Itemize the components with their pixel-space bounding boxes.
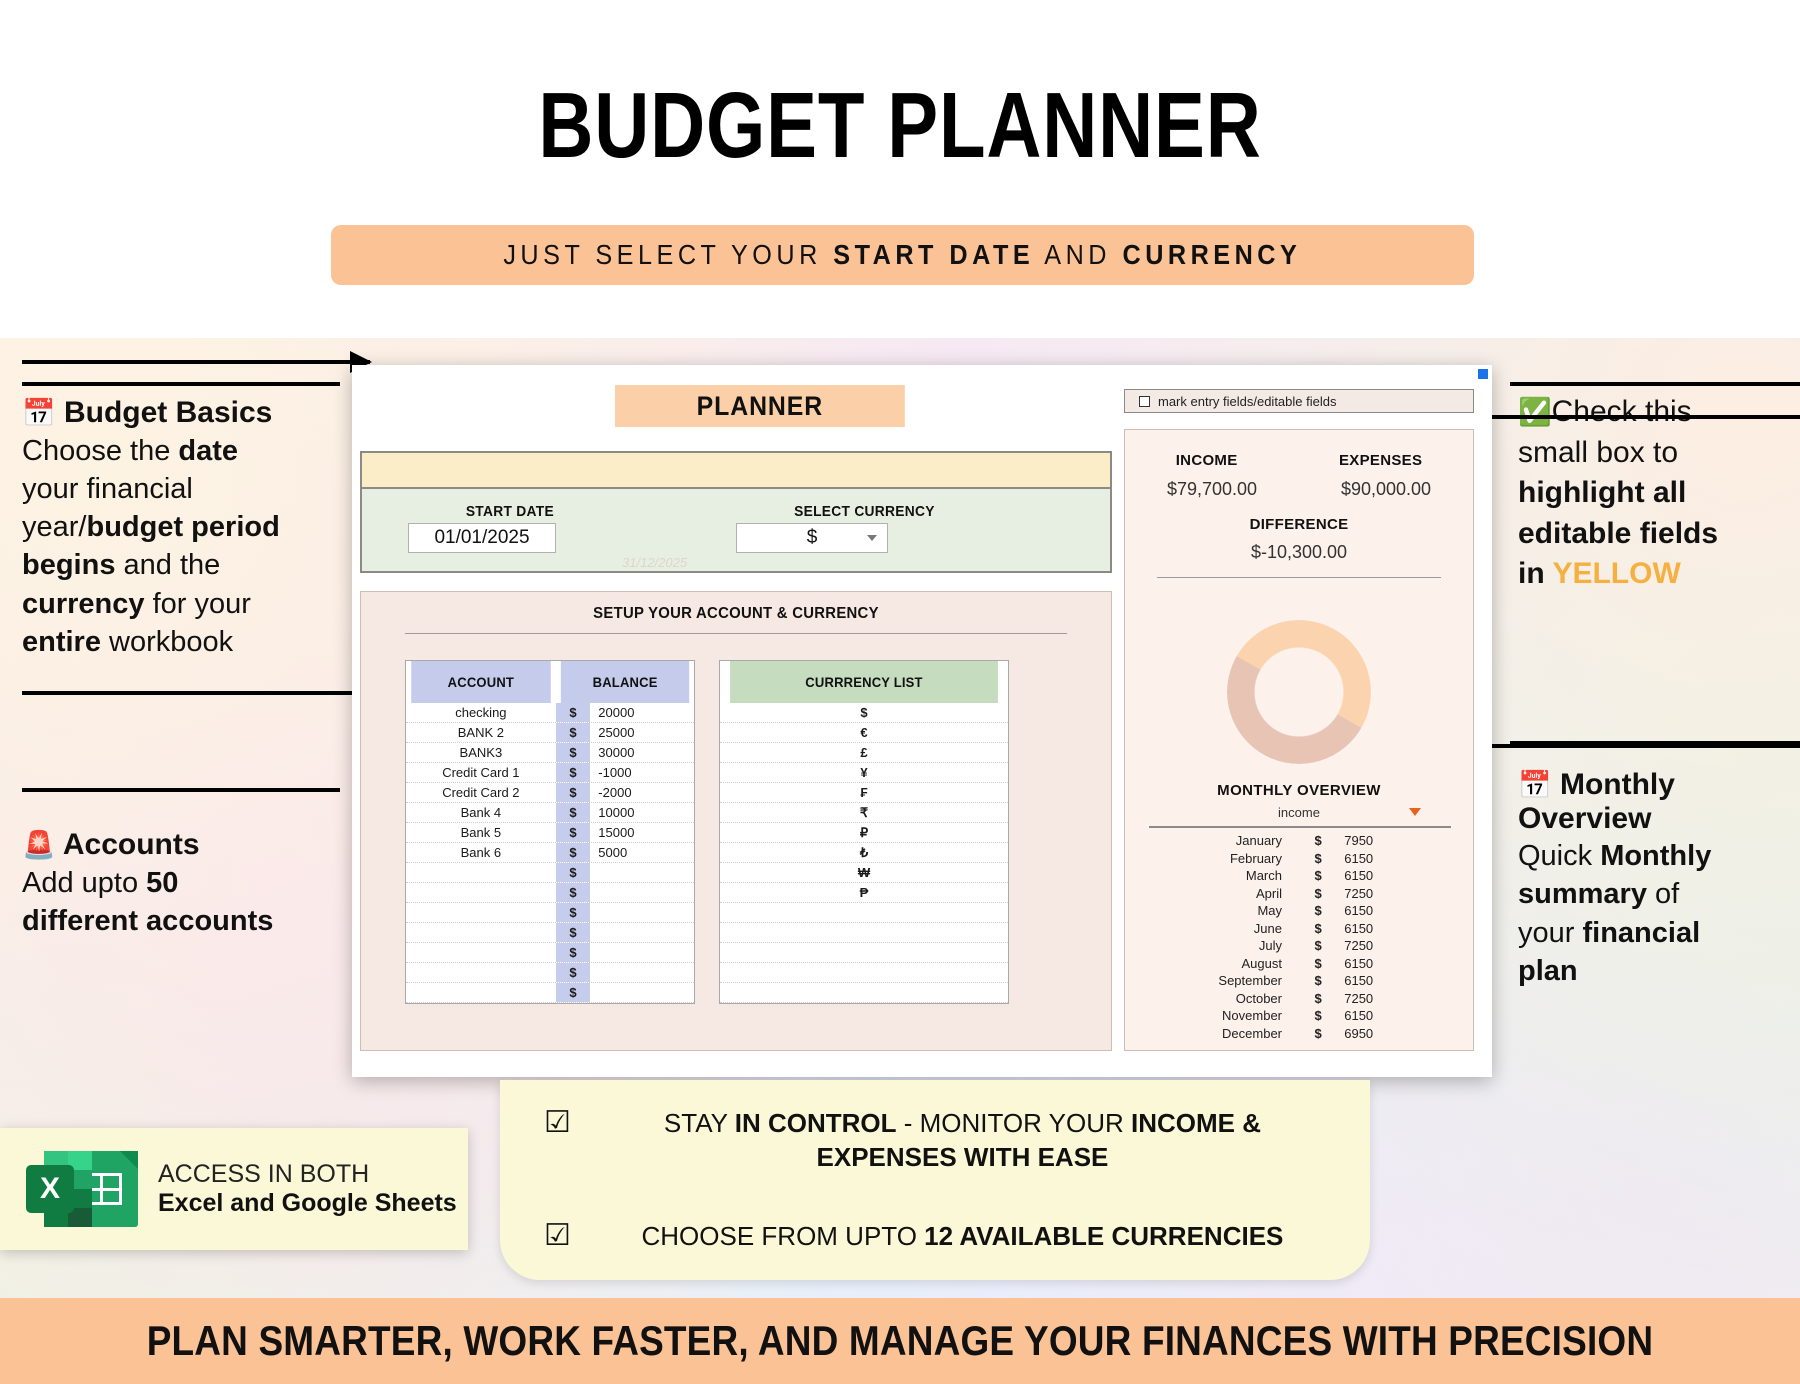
list-item: May$6150 — [1149, 902, 1451, 920]
month-value: 6150 — [1336, 903, 1451, 918]
col-header-account: ACCOUNT — [411, 661, 550, 703]
account-balance-cell[interactable]: -1000 — [590, 763, 694, 782]
currency-symbol-cell[interactable]: £ — [720, 743, 1008, 762]
currency-symbol-cell[interactable] — [720, 983, 1008, 1002]
month-label: March — [1149, 868, 1300, 883]
feature-item-2: ☑ CHOOSE FROM UPTO 12 AVAILABLE CURRENCI… — [500, 1175, 1370, 1253]
month-value: 6150 — [1336, 868, 1451, 883]
account-currency-cell: $ — [556, 983, 591, 1002]
month-value: 6950 — [1336, 1026, 1451, 1041]
bb-l5-bold: currency — [22, 588, 145, 620]
cb-l1: Check this — [1552, 395, 1692, 428]
col-header-currency-list: CURRRENCY LIST — [730, 661, 998, 703]
mo-l1-plain: Quick — [1518, 840, 1600, 872]
bb-l3-bold: budget period — [86, 511, 279, 543]
f1-a: STAY — [664, 1108, 735, 1138]
account-balance-cell[interactable] — [590, 903, 694, 922]
currency-symbol-cell[interactable]: ₺ — [720, 843, 1008, 862]
planner-title-cell: PLANNER — [615, 385, 905, 427]
f2-b: 12 AVAILABLE CURRENCIES — [924, 1221, 1283, 1251]
currency-select-value: $ — [807, 527, 818, 549]
account-balance-cell[interactable]: -2000 — [590, 783, 694, 802]
accounts-heading-text: Accounts — [63, 828, 200, 861]
annotation-check-box: ✅Check this small box to highlight all e… — [1518, 392, 1788, 595]
table-row[interactable]: ₺ — [720, 843, 1008, 863]
account-name-cell[interactable]: BANK3 — [406, 743, 556, 762]
monthly-overview-table: January$7950February$6150March$6150April… — [1149, 832, 1451, 1042]
divider-left-mid — [22, 788, 340, 792]
account-currency-cell: $ — [556, 763, 591, 782]
setup-panel: SETUP YOUR ACCOUNT & CURRENCY ACCOUNT BA… — [360, 591, 1112, 1051]
start-date-label: START DATE — [466, 503, 554, 520]
currency-symbol-cell[interactable]: ₹ — [720, 803, 1008, 822]
month-value: 6150 — [1336, 921, 1451, 936]
table-row[interactable] — [720, 923, 1008, 943]
income-value: $79,700.00 — [1167, 479, 1257, 500]
currency-symbol-cell[interactable] — [720, 903, 1008, 922]
account-currency-cell: $ — [556, 843, 591, 862]
table-row[interactable]: Credit Card 1$-1000 — [406, 763, 694, 783]
mark-entry-fields-row[interactable]: mark entry fields/editable fields — [1124, 389, 1474, 413]
currency-table-header: CURRRENCY LIST — [720, 661, 1008, 703]
account-balance-cell[interactable]: 30000 — [590, 743, 694, 762]
account-currency-cell: $ — [556, 863, 591, 882]
table-row[interactable]: Bank 4$10000 — [406, 803, 694, 823]
f1-c: - MONITOR YOUR — [896, 1108, 1131, 1138]
sheet-selection-corner — [1478, 369, 1488, 379]
table-row[interactable]: BANK3$30000 — [406, 743, 694, 763]
bb-l1-plain: Choose the — [22, 435, 178, 467]
list-item: August$6150 — [1149, 955, 1451, 973]
account-name-cell[interactable] — [406, 963, 556, 982]
month-currency: $ — [1300, 868, 1336, 883]
highlight-bar — [362, 453, 1110, 489]
table-row[interactable]: ¥ — [720, 763, 1008, 783]
account-currency-cell: $ — [556, 943, 591, 962]
account-balance-cell[interactable]: 20000 — [590, 703, 694, 722]
bb-l4-plain: and the — [115, 549, 220, 581]
account-balance-cell[interactable] — [590, 943, 694, 962]
account-name-cell[interactable]: Credit Card 1 — [406, 763, 556, 782]
account-name-cell[interactable]: Bank 4 — [406, 803, 556, 822]
mo-l2-plain: of — [1647, 878, 1679, 910]
account-currency-cell: $ — [556, 883, 591, 902]
month-value: 6150 — [1336, 1008, 1451, 1023]
table-row[interactable]: € — [720, 723, 1008, 743]
mo-heading-l1: Monthly — [1560, 768, 1675, 801]
month-currency: $ — [1300, 956, 1336, 971]
col-header-balance: BALANCE — [561, 661, 690, 703]
mo-l4-bold: plan — [1518, 955, 1578, 987]
list-item: November$6150 — [1149, 1007, 1451, 1025]
budget-basics-body: Choose the date your financial year/budg… — [22, 432, 342, 662]
account-currency-cell: $ — [556, 783, 591, 802]
account-name-cell[interactable] — [406, 863, 556, 882]
currency-symbol-cell[interactable] — [720, 963, 1008, 982]
month-currency: $ — [1300, 1008, 1336, 1023]
month-value: 6150 — [1336, 956, 1451, 971]
month-currency: $ — [1300, 851, 1336, 866]
month-label: May — [1149, 903, 1300, 918]
summary-labels: INCOME EXPENSES — [1125, 452, 1473, 469]
list-item: March$6150 — [1149, 867, 1451, 885]
check-mark-icon: ✅ — [1518, 397, 1552, 427]
table-row[interactable]: Bank 5$15000 — [406, 823, 694, 843]
bottom-banner-text: PLAN SMARTER, WORK FASTER, AND MANAGE YO… — [147, 1317, 1653, 1365]
setup-panel-title: SETUP YOUR ACCOUNT & CURRENCY — [387, 592, 1085, 623]
date-currency-panel: START DATE 01/01/2025 SELECT CURRENCY $ … — [360, 451, 1112, 573]
currency-symbol-cell[interactable]: ¥ — [720, 763, 1008, 782]
table-row[interactable]: ₣ — [720, 783, 1008, 803]
feature-item-1: ☑ STAY IN CONTROL - MONITOR YOUR INCOME … — [500, 1080, 1370, 1175]
account-name-cell[interactable] — [406, 883, 556, 902]
account-currency-cell: $ — [556, 803, 591, 822]
chevron-down-icon[interactable] — [867, 535, 877, 541]
account-currency-cell: $ — [556, 963, 591, 982]
month-label: February — [1149, 851, 1300, 866]
setup-rule — [405, 633, 1067, 634]
account-name-cell[interactable] — [406, 983, 556, 1002]
account-currency-cell: $ — [556, 823, 591, 842]
month-value: 7250 — [1336, 886, 1451, 901]
month-label: January — [1149, 833, 1300, 848]
table-row[interactable]: Bank 6$5000 — [406, 843, 694, 863]
badge-line-2: Excel and Google Sheets — [158, 1189, 457, 1219]
difference-value: $-10,300.00 — [1125, 542, 1473, 563]
mo-l1-bold: Monthly — [1600, 840, 1711, 872]
ghost-end-date: 31/12/2025 — [622, 555, 687, 570]
account-balance-cell[interactable]: 25000 — [590, 723, 694, 742]
siren-icon: 🚨 — [22, 830, 56, 860]
summary-rule — [1157, 577, 1441, 578]
month-label: November — [1149, 1008, 1300, 1023]
subtitle-prefix: JUST SELECT YOUR — [504, 239, 834, 270]
month-value: 6150 — [1336, 973, 1451, 988]
annotation-accounts: 🚨 Accounts Add upto 50 different account… — [22, 828, 342, 940]
table-row[interactable]: $ — [406, 983, 694, 1003]
filter-dropdown-icon[interactable] — [1409, 808, 1421, 816]
account-currency-cell: $ — [556, 923, 591, 942]
list-item: February$6150 — [1149, 850, 1451, 868]
bb-l2: your financial — [22, 473, 193, 505]
list-item: April$7250 — [1149, 885, 1451, 903]
month-currency: $ — [1300, 991, 1336, 1006]
table-row[interactable]: $ — [720, 703, 1008, 723]
divider-left-top — [22, 382, 340, 386]
table-row[interactable] — [720, 903, 1008, 923]
table-row[interactable]: ₽ — [720, 823, 1008, 843]
table-row[interactable]: $ — [406, 883, 694, 903]
accounts-table-body: checking$20000BANK 2$25000BANK3$30000Cre… — [406, 703, 694, 1003]
currency-symbol-cell[interactable]: € — [720, 723, 1008, 742]
month-label: August — [1149, 956, 1300, 971]
account-name-cell[interactable]: BANK 2 — [406, 723, 556, 742]
month-currency: $ — [1300, 833, 1336, 848]
mo-l2-bold: summary — [1518, 878, 1647, 910]
income-label: INCOME — [1176, 452, 1238, 469]
calendar-icon-2: 📅 — [1518, 770, 1552, 800]
currency-select[interactable]: $ — [736, 523, 888, 553]
accounts-table-header: ACCOUNT BALANCE — [406, 661, 694, 703]
annotation-budget-basics: 📅 Budget Basics Choose the date your fin… — [22, 396, 342, 661]
table-row[interactable]: Credit Card 2$-2000 — [406, 783, 694, 803]
budget-basics-heading-text: Budget Basics — [64, 396, 272, 429]
mo-l3-bold: financial — [1582, 917, 1700, 949]
cb-l5-highlight: YELLOW — [1552, 557, 1680, 590]
table-row[interactable]: BANK 2$25000 — [406, 723, 694, 743]
accounts-heading: 🚨 Accounts — [22, 828, 342, 862]
currency-symbol-cell[interactable]: ₽ — [720, 823, 1008, 842]
monthly-overview-rule — [1149, 826, 1451, 828]
cb-l5-plain: in — [1518, 557, 1552, 590]
account-currency-cell: $ — [556, 703, 591, 722]
currency-symbol-cell[interactable] — [720, 943, 1008, 962]
month-value: 6150 — [1336, 851, 1451, 866]
list-item: July$7250 — [1149, 937, 1451, 955]
table-row[interactable]: $ — [406, 863, 694, 883]
expenses-label: EXPENSES — [1339, 452, 1422, 469]
currency-table[interactable]: CURRRENCY LIST $€£¥₣₹₽₺₩₱ — [719, 660, 1009, 1004]
excel-x-icon: X — [26, 1165, 74, 1213]
table-row[interactable]: £ — [720, 743, 1008, 763]
month-currency: $ — [1300, 973, 1336, 988]
month-label: June — [1149, 921, 1300, 936]
month-value: 7250 — [1336, 991, 1451, 1006]
account-name-cell[interactable] — [406, 923, 556, 942]
mo-l3-plain: your — [1518, 917, 1582, 949]
cb-l4: editable fields — [1518, 517, 1718, 550]
divider-right-top — [1510, 382, 1800, 386]
account-currency-cell: $ — [556, 743, 591, 762]
features-callout: ☑ STAY IN CONTROL - MONITOR YOUR INCOME … — [500, 1080, 1370, 1280]
month-currency: $ — [1300, 903, 1336, 918]
account-balance-cell[interactable]: 10000 — [590, 803, 694, 822]
page-title: BUDGET PLANNER — [162, 72, 1638, 179]
account-balance-cell[interactable] — [590, 923, 694, 942]
account-name-cell[interactable]: Bank 6 — [406, 843, 556, 862]
account-balance-cell[interactable]: 15000 — [590, 823, 694, 842]
acc-l1-bold: 50 — [146, 867, 178, 899]
account-name-cell[interactable]: checking — [406, 703, 556, 722]
currency-symbol-cell[interactable]: ₩ — [720, 863, 1008, 882]
summary-values: $79,700.00 $90,000.00 — [1125, 479, 1473, 500]
list-item: January$7950 — [1149, 832, 1451, 850]
mark-entry-fields-checkbox[interactable] — [1139, 396, 1150, 407]
bb-l5-plain: for your — [145, 588, 251, 620]
table-row[interactable]: $ — [406, 923, 694, 943]
month-label: July — [1149, 938, 1300, 953]
f1-b: IN CONTROL — [735, 1108, 897, 1138]
month-value: 7250 — [1336, 938, 1451, 953]
acc-l2-bold: different accounts — [22, 905, 273, 937]
bb-l4-bold: begins — [22, 549, 115, 581]
list-item: December$6950 — [1149, 1025, 1451, 1043]
bottom-banner: PLAN SMARTER, WORK FASTER, AND MANAGE YO… — [0, 1298, 1800, 1384]
account-name-cell[interactable] — [406, 903, 556, 922]
month-currency: $ — [1300, 886, 1336, 901]
table-row[interactable] — [720, 983, 1008, 1003]
mo-heading-l2: Overview — [1518, 802, 1651, 835]
accounts-body: Add upto 50 different accounts — [22, 864, 342, 941]
monthly-overview-title: MONTHLY OVERVIEW — [1125, 782, 1473, 799]
table-row[interactable]: $ — [406, 963, 694, 983]
f2-a: CHOOSE FROM UPTO — [642, 1221, 925, 1251]
subtitle-mid: AND — [1034, 239, 1122, 270]
expenses-value: $90,000.00 — [1341, 479, 1431, 500]
summary-panel: INCOME EXPENSES $79,700.00 $90,000.00 DI… — [1124, 429, 1474, 1051]
month-label: December — [1149, 1026, 1300, 1041]
account-balance-cell[interactable] — [590, 963, 694, 982]
month-label: October — [1149, 991, 1300, 1006]
currency-table-body: $€£¥₣₹₽₺₩₱ — [720, 703, 1008, 1003]
bb-l6-plain: workbook — [101, 626, 233, 658]
spreadsheet-window[interactable]: PLANNER START DATE 01/01/2025 SELECT CUR… — [352, 365, 1492, 1077]
list-item: September$6150 — [1149, 972, 1451, 990]
annotation-monthly-overview: 📅 Monthly Overview Quick Monthly summary… — [1518, 768, 1788, 990]
accounts-table[interactable]: ACCOUNT BALANCE checking$20000BANK 2$250… — [405, 660, 695, 1004]
bb-l1-bold: date — [178, 435, 238, 467]
table-row[interactable]: checking$20000 — [406, 703, 694, 723]
month-value: 7950 — [1336, 833, 1451, 848]
table-row[interactable]: ₩ — [720, 863, 1008, 883]
bb-l6-bold: entire — [22, 626, 101, 658]
check-box-icon-2: ☑ — [544, 1221, 571, 1251]
subtitle-pill: JUST SELECT YOUR START DATE AND CURRENCY — [331, 225, 1474, 285]
bb-l3-plain: year/ — [22, 511, 86, 543]
arrow-to-planner — [22, 360, 370, 364]
currency-symbol-cell[interactable]: ₱ — [720, 883, 1008, 902]
mark-entry-fields-label: mark entry fields/editable fields — [1158, 394, 1336, 409]
date-currency-area: START DATE 01/01/2025 SELECT CURRENCY $ … — [362, 489, 1110, 571]
calendar-icon: 📅 — [22, 398, 56, 428]
account-currency-cell: $ — [556, 723, 591, 742]
cb-l3: highlight all — [1518, 476, 1686, 509]
table-row[interactable] — [720, 963, 1008, 983]
account-name-cell[interactable] — [406, 943, 556, 962]
select-currency-label: SELECT CURRENCY — [794, 503, 935, 520]
platform-badge: X ACCESS IN BOTH Excel and Google Sheets — [0, 1128, 468, 1250]
monthly-overview-body: Quick Monthly summary of your financial … — [1518, 837, 1788, 990]
account-balance-cell[interactable] — [590, 863, 694, 882]
table-row[interactable]: $ — [406, 903, 694, 923]
month-currency: $ — [1300, 938, 1336, 953]
table-row[interactable]: ₹ — [720, 803, 1008, 823]
account-balance-cell[interactable] — [590, 883, 694, 902]
month-currency: $ — [1300, 1026, 1336, 1041]
check-box-body: ✅Check this small box to highlight all e… — [1518, 392, 1788, 595]
check-box-icon-1: ☑ — [544, 1108, 571, 1138]
account-currency-cell: $ — [556, 903, 591, 922]
table-row[interactable]: $ — [406, 943, 694, 963]
month-label: April — [1149, 886, 1300, 901]
currency-symbol-cell[interactable]: ₣ — [720, 783, 1008, 802]
account-balance-cell[interactable]: 5000 — [590, 843, 694, 862]
arrow-to-accounts — [22, 691, 390, 695]
currency-symbol-cell[interactable]: $ — [720, 703, 1008, 722]
currency-symbol-cell[interactable] — [720, 923, 1008, 942]
subtitle-start-date: START DATE — [833, 239, 1034, 270]
table-row[interactable]: ₱ — [720, 883, 1008, 903]
monthly-overview-heading: 📅 Monthly Overview — [1518, 768, 1788, 835]
account-balance-cell[interactable] — [590, 983, 694, 1002]
month-label: September — [1149, 973, 1300, 988]
subtitle-currency: CURRENCY — [1123, 239, 1302, 270]
start-date-input[interactable]: 01/01/2025 — [408, 523, 556, 553]
badge-line-1: ACCESS IN BOTH — [158, 1160, 457, 1190]
budget-basics-heading: 📅 Budget Basics — [22, 396, 342, 430]
cb-l2: small box to — [1518, 436, 1678, 469]
table-row[interactable] — [720, 943, 1008, 963]
income-expense-donut-chart — [1227, 620, 1371, 764]
list-item: October$7250 — [1149, 990, 1451, 1008]
account-name-cell[interactable]: Credit Card 2 — [406, 783, 556, 802]
platform-badge-text: ACCESS IN BOTH Excel and Google Sheets — [158, 1160, 457, 1219]
acc-l1-plain: Add upto — [22, 867, 146, 899]
account-name-cell[interactable]: Bank 5 — [406, 823, 556, 842]
platform-logos: X — [26, 1151, 138, 1227]
page-header: BUDGET PLANNER JUST SELECT YOUR START DA… — [0, 0, 1800, 338]
list-item: June$6150 — [1149, 920, 1451, 938]
month-currency: $ — [1300, 921, 1336, 936]
difference-label: DIFFERENCE — [1125, 516, 1473, 533]
